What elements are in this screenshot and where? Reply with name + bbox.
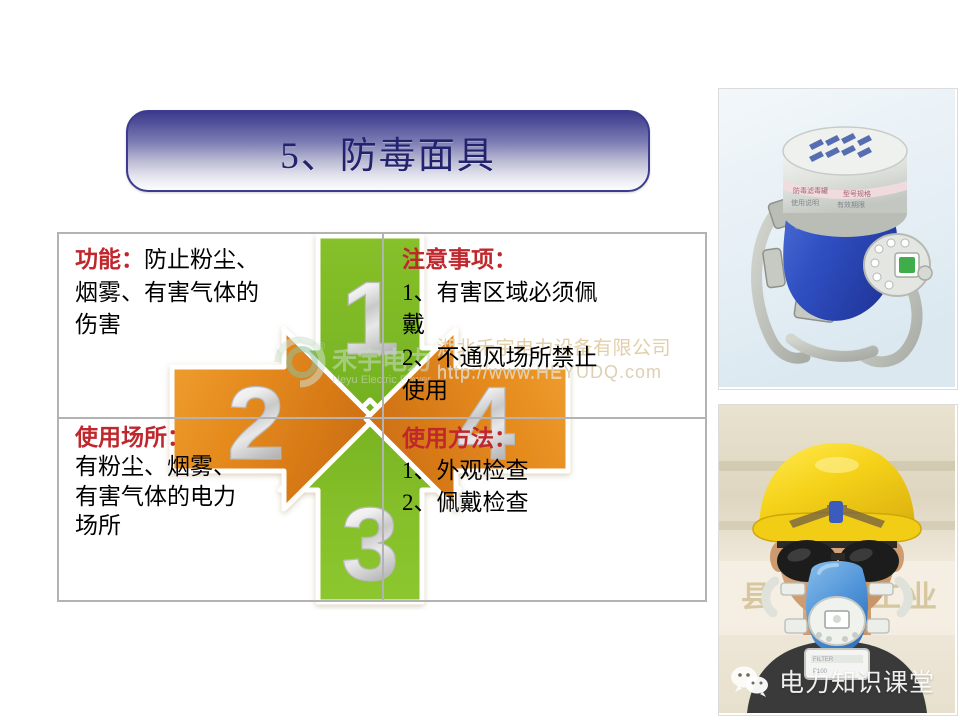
quadrant-usage-location-line-1: 有粉尘、烟雾、	[75, 452, 368, 481]
quadrant-usage-method-line-2: 2、佩戴检查	[402, 487, 691, 519]
quadrant-function-heading: 功能：	[75, 247, 144, 272]
quadrant-usage-location-line-3: 场所	[75, 511, 368, 540]
svg-text:防毒滤毒罐: 防毒滤毒罐	[793, 186, 828, 195]
quadrant-usage-method-line-1: 1、外观检查	[402, 455, 691, 487]
wechat-watermark-badge: 电力知识课堂	[730, 660, 945, 702]
quadrant-usage-method: 使用方法： 1、外观检查 2、佩戴检查	[382, 417, 705, 600]
quadrant-cautions-line-4: 使用	[402, 375, 691, 408]
slide-title-banner: 5、防毒面具	[126, 110, 650, 192]
quadrant-function-line-2: 烟雾、有害气体的	[75, 277, 368, 310]
svg-text:有效期限: 有效期限	[837, 200, 865, 209]
quadrant-usage-method-heading: 使用方法：	[402, 423, 691, 455]
quadrant-cautions: 注意事项： 1、有害区域必须佩 戴 2、不通风场所禁止 使用	[382, 234, 705, 417]
svg-text:使用说明: 使用说明	[791, 198, 819, 207]
quadrant-cautions-line-3: 2、不通风场所禁止	[402, 342, 691, 375]
quadrant-cautions-heading: 注意事项：	[402, 244, 691, 277]
quadrant-usage-location-line-2: 有害气体的电力	[75, 482, 368, 511]
wechat-icon	[730, 665, 770, 697]
quadrant-cautions-line-2: 戴	[402, 309, 691, 342]
quadrant-function-line-1: 功能：防止粉尘、	[75, 244, 368, 277]
quadrant-function-line-3: 伤害	[75, 309, 368, 342]
quadrant-usage-location-heading: 使用场所：	[75, 423, 368, 452]
quadrant-function: 功能：防止粉尘、 烟雾、有害气体的 伤害	[59, 234, 382, 417]
slide-canvas: 5、防毒面具	[0, 0, 960, 720]
four-quadrant-table: 功能：防止粉尘、 烟雾、有害气体的 伤害 注意事项： 1、有害区域必须佩 戴 2…	[57, 232, 707, 602]
page-title: 5、防毒面具	[280, 125, 496, 179]
quadrant-cautions-line-1: 1、有害区域必须佩	[402, 277, 691, 310]
wechat-label: 电力知识课堂	[779, 663, 935, 699]
quadrant-usage-location: 使用场所： 有粉尘、烟雾、 有害气体的电力 场所	[59, 417, 382, 600]
svg-text:型号规格: 型号规格	[843, 189, 871, 198]
photo-gas-mask: 防毒滤毒罐型号规格 使用说明有效期限	[718, 88, 958, 390]
